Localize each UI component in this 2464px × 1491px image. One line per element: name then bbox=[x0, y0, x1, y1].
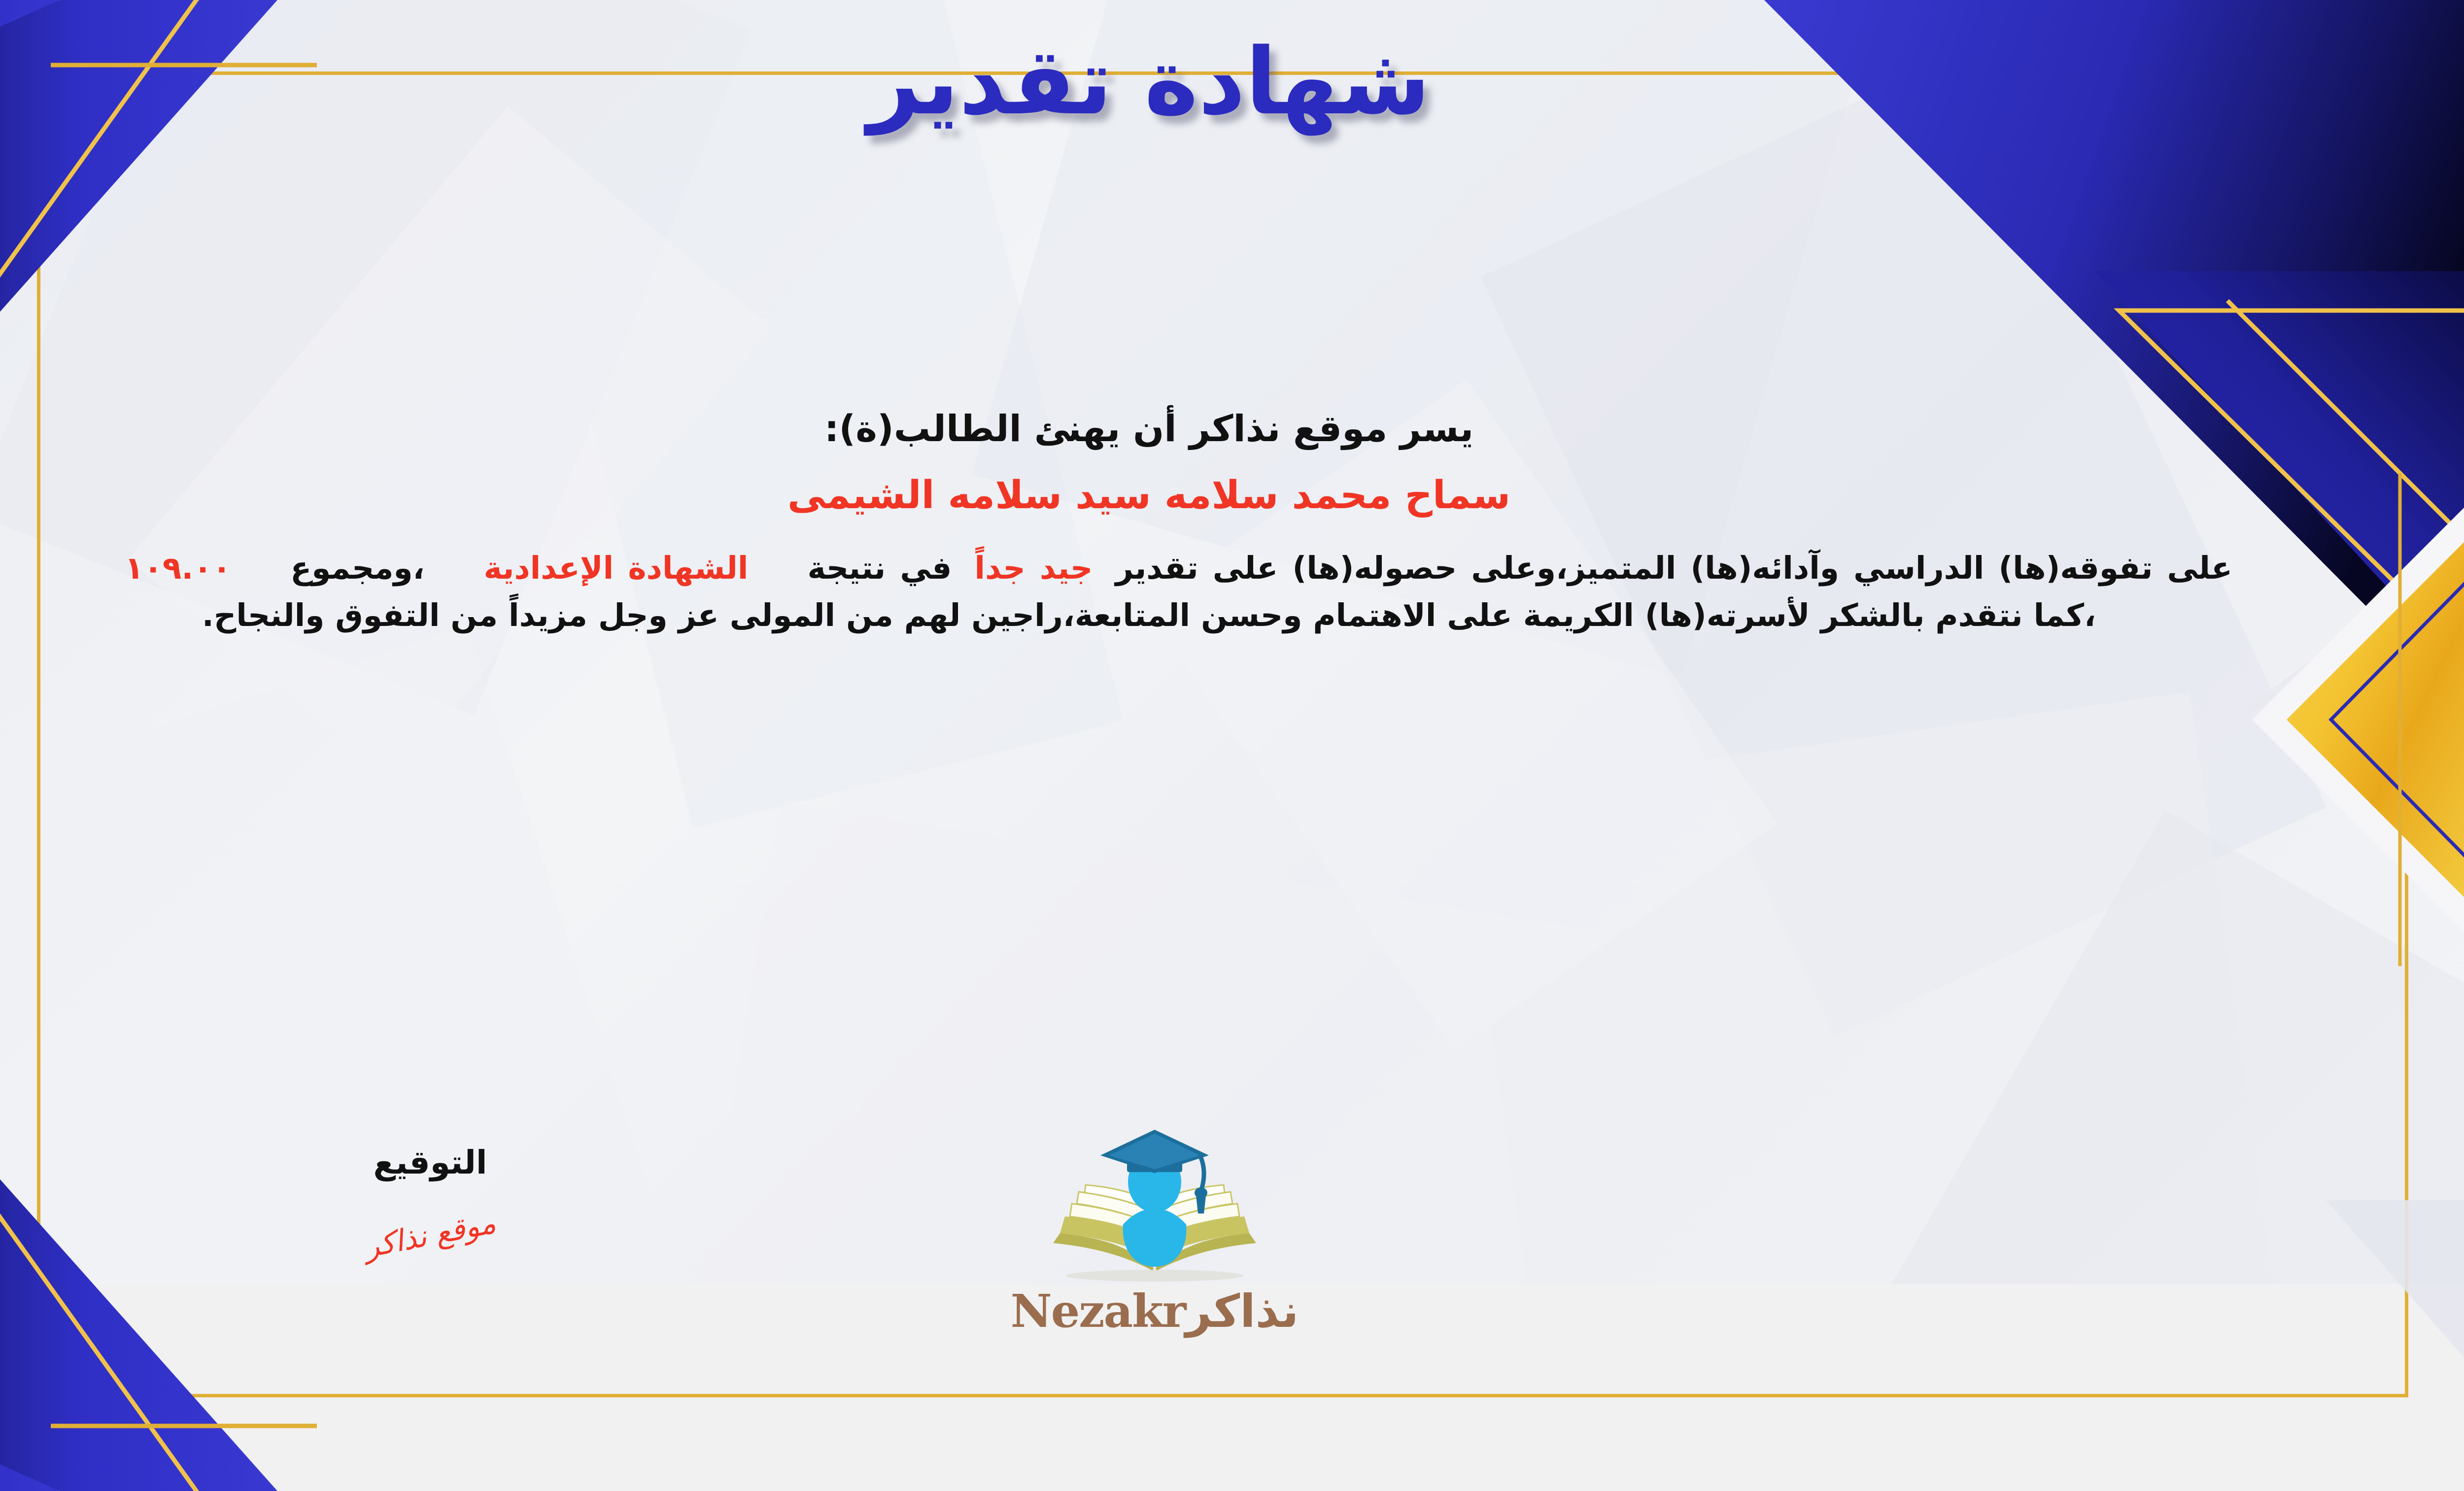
brand-logo-arabic: نذاكر bbox=[1185, 1285, 1299, 1338]
brand-logo-text: Nezakrنذاكر bbox=[938, 1284, 1371, 1338]
citation-segment-4: ،كما نتقدم بالشكر لأسرته(ها) الكريمة على… bbox=[202, 597, 2096, 633]
signature-label: التوقيع bbox=[208, 1144, 652, 1181]
certificate-page: شهادة تقدير يسر موقع نذاكر أن يهنئ الطال… bbox=[0, 0, 2464, 1491]
signature-area: التوقيع موقع نذاكر bbox=[208, 1144, 652, 1252]
intro-line: يسر موقع نذاكر أن يهنئ الطالب(ة): bbox=[66, 409, 2232, 449]
citation-paragraph: على تفوقه(ها) الدراسي وآدائه(ها) المتميز… bbox=[66, 545, 2232, 639]
student-name: سماح محمد سلامه سيد سلامه الشيمى bbox=[66, 475, 2232, 517]
graduate-open-book-icon bbox=[1027, 1119, 1283, 1291]
total-score: ١٠٩.٠٠ bbox=[125, 550, 231, 586]
brand-logo: Nezakrنذاكر bbox=[938, 1119, 1371, 1338]
citation-segment-1: على تفوقه(ها) الدراسي وآدائه(ها) المتميز… bbox=[1115, 550, 2232, 586]
grade-value: جيد جداً bbox=[974, 550, 1093, 586]
exam-name: الشهادة الإعدادية bbox=[483, 550, 748, 586]
certificate-body: يسر موقع نذاكر أن يهنئ الطالب(ة): سماح م… bbox=[66, 409, 2232, 639]
citation-segment-3: ،ومجموع bbox=[290, 550, 424, 586]
citation-segment-2: في نتيجة bbox=[808, 550, 952, 586]
brand-logo-latin: Nezakr bbox=[1011, 1284, 1186, 1338]
page-title: شهادة تقدير bbox=[0, 20, 2464, 143]
